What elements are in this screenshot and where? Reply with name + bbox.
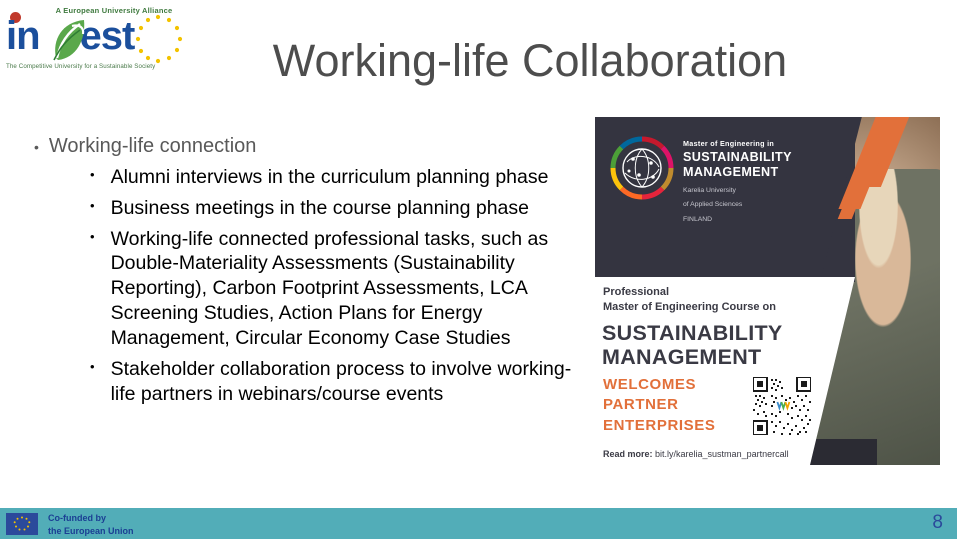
qr-code-icon — [753, 377, 811, 435]
poster-welcome-line-3: ENTERPRISES — [603, 416, 715, 436]
slide: A European University Alliance inest The… — [0, 0, 957, 539]
footer-bar: Co-funded by the European Union 8 — [0, 508, 957, 539]
poster-read-more: Read more: bit.ly/karelia_sustman_partne… — [603, 449, 789, 459]
poster-header-org-1: Karelia University — [683, 186, 833, 196]
poster-read-more-url: bit.ly/karelia_sustman_partnercall — [655, 449, 789, 459]
poster-body-title: SUSTAINABILITY MANAGEMENT — [602, 321, 783, 369]
bullet-glyph-icon: • — [34, 134, 39, 161]
list-item: • Business meetings in the course planni… — [90, 196, 594, 221]
list-item-label: Stakeholder collaboration process to inv… — [111, 357, 594, 407]
list-item: • Working-life connected professional ta… — [90, 227, 594, 352]
logo-word-in: in — [6, 14, 40, 58]
poster-body-title-1: SUSTAINABILITY — [602, 321, 783, 345]
list-item-label: Alumni interviews in the curriculum plan… — [111, 165, 594, 190]
page-title: Working-life Collaboration — [180, 36, 880, 86]
poster-header-kicker: Master of Engineering in — [683, 139, 833, 148]
poster-body-pretitle-2: Master of Engineering Course on — [603, 300, 776, 315]
poster-header-text: Master of Engineering in SUSTAINABILITY … — [683, 139, 833, 225]
poster-body-title-2: MANAGEMENT — [602, 345, 783, 369]
sustainability-ring-icon — [609, 135, 675, 201]
eu-flag-icon — [6, 513, 38, 535]
poster-body-pretitle: Professional Master of Engineering Cours… — [603, 285, 776, 315]
bullet-glyph-icon: • — [90, 357, 95, 407]
poster-body-welcome: WELCOMES PARTNER ENTERPRISES — [603, 375, 715, 436]
poster-welcome-line-2: PARTNER — [603, 395, 715, 415]
poster-header-org-3: FINLAND — [683, 215, 833, 225]
bullet-glyph-icon: • — [90, 196, 95, 221]
list-item: • Alumni interviews in the curriculum pl… — [90, 165, 594, 190]
page-number: 8 — [932, 512, 943, 534]
footer-funding-line-2: the European Union — [48, 525, 134, 538]
poster-body-pretitle-1: Professional — [603, 285, 776, 300]
logo-tagline-bottom: The Competitive University for a Sustain… — [6, 63, 155, 70]
footer-funding-text: Co-funded by the European Union — [48, 512, 134, 538]
poster-image: Master of Engineering in SUSTAINABILITY … — [595, 117, 940, 465]
poster-read-more-label: Read more: — [603, 449, 653, 459]
bullet-glyph-icon: • — [90, 165, 95, 190]
poster-welcome-line-1: WELCOMES — [603, 375, 715, 395]
poster-header-title-1: SUSTAINABILITY — [683, 150, 833, 165]
poster-header-org-2: of Applied Sciences — [683, 200, 833, 210]
list-item: • Stakeholder collaboration process to i… — [90, 357, 594, 407]
footer-funding-line-1: Co-funded by — [48, 512, 134, 525]
body-content: • Working-life connection • Alumni inter… — [34, 134, 594, 413]
invest-logo: A European University Alliance inest The… — [4, 6, 179, 70]
bullet-level1: • Working-life connection — [34, 134, 594, 161]
list-item-label: Business meetings in the course planning… — [111, 196, 594, 221]
poster-header-title-2: MANAGEMENT — [683, 165, 833, 180]
bullet-level2-list: • Alumni interviews in the curriculum pl… — [90, 165, 594, 408]
leaf-icon — [50, 18, 92, 62]
eu-stars-icon — [132, 14, 184, 66]
bullet-glyph-icon: • — [90, 227, 95, 352]
list-item-label: Working-life connected professional task… — [111, 227, 594, 352]
bullet-level1-label: Working-life connection — [49, 134, 257, 161]
